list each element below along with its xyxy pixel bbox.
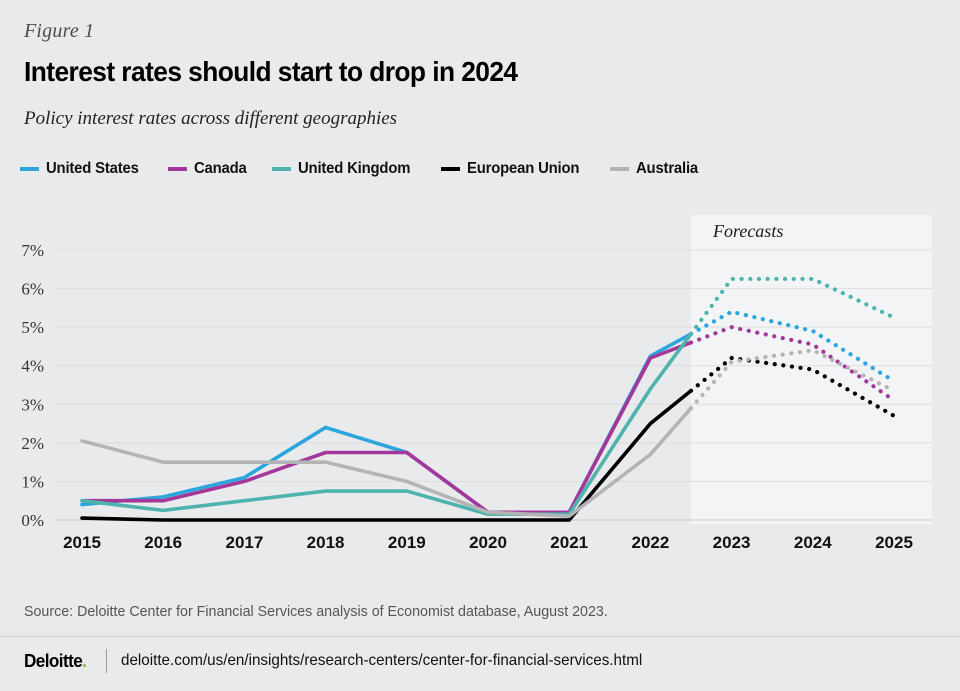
page-title: Interest rates should start to drop in 2…: [24, 56, 518, 88]
line-chart-svg: 0%1%2%3%4%5%6%7%Forecasts201520162017201…: [0, 205, 960, 555]
deloitte-logo: Deloitte.: [24, 651, 86, 672]
page-subtitle: Policy interest rates across different g…: [24, 108, 397, 130]
figure-number: Figure 1: [24, 20, 94, 43]
legend-label: European Union: [467, 160, 579, 178]
legend-item-canada[interactable]: Canada: [168, 160, 251, 178]
x-axis-tick-label: 2019: [388, 533, 426, 552]
figure-container: Figure 1 Interest rates should start to …: [0, 0, 960, 691]
x-axis-tick-label: 2020: [469, 533, 507, 552]
legend-swatch-icon: [272, 167, 291, 171]
y-axis-tick-label: 6%: [21, 280, 44, 299]
forecast-annotation-label: Forecasts: [712, 221, 783, 241]
x-axis-tick-label: 2017: [225, 533, 263, 552]
legend-item-australia[interactable]: Australia: [610, 160, 703, 178]
y-axis-tick-label: 3%: [21, 395, 44, 414]
legend-swatch-icon: [441, 167, 460, 171]
footer-url[interactable]: deloitte.com/us/en/insights/research-cen…: [121, 652, 642, 670]
legend-swatch-icon: [168, 167, 187, 171]
legend-item-united-states[interactable]: United States: [20, 160, 146, 178]
chart-plot-area: 0%1%2%3%4%5%6%7%Forecasts201520162017201…: [0, 205, 960, 555]
chart-legend: United StatesCanadaUnited KingdomEuropea…: [20, 158, 724, 180]
legend-label: United Kingdom: [298, 160, 410, 178]
footer-divider: [0, 636, 960, 637]
legend-item-european-union[interactable]: European Union: [441, 160, 588, 178]
legend-swatch-icon: [20, 167, 39, 171]
brand-dot: .: [82, 651, 86, 671]
series-line-actual: [82, 334, 691, 514]
x-axis-tick-label: 2021: [550, 533, 588, 552]
x-axis-tick-label: 2016: [144, 533, 182, 552]
footer-brand-bar: Deloitte. deloitte.com/us/en/insights/re…: [24, 648, 669, 674]
y-axis-tick-label: 5%: [21, 318, 44, 337]
legend-item-united-kingdom[interactable]: United Kingdom: [272, 160, 419, 178]
legend-label: Australia: [636, 160, 698, 178]
legend-swatch-icon: [610, 167, 629, 171]
y-axis-tick-label: 7%: [21, 241, 44, 260]
y-axis-tick-label: 4%: [21, 357, 44, 376]
brand-name: Deloitte: [24, 651, 82, 671]
series-line-actual: [82, 343, 691, 513]
x-axis-tick-label: 2025: [875, 533, 913, 552]
legend-label: United States: [46, 160, 139, 178]
x-axis-tick-label: 2015: [63, 533, 101, 552]
y-axis-tick-label: 2%: [21, 434, 44, 453]
y-axis-tick-label: 0%: [21, 511, 44, 530]
legend-label: Canada: [194, 160, 247, 178]
brand-separator: [106, 649, 107, 673]
x-axis-tick-label: 2022: [631, 533, 669, 552]
y-axis-tick-label: 1%: [21, 472, 44, 491]
x-axis-tick-label: 2024: [794, 533, 832, 552]
x-axis-tick-label: 2018: [307, 533, 345, 552]
source-note: Source: Deloitte Center for Financial Se…: [24, 603, 608, 620]
x-axis-tick-label: 2023: [713, 533, 751, 552]
